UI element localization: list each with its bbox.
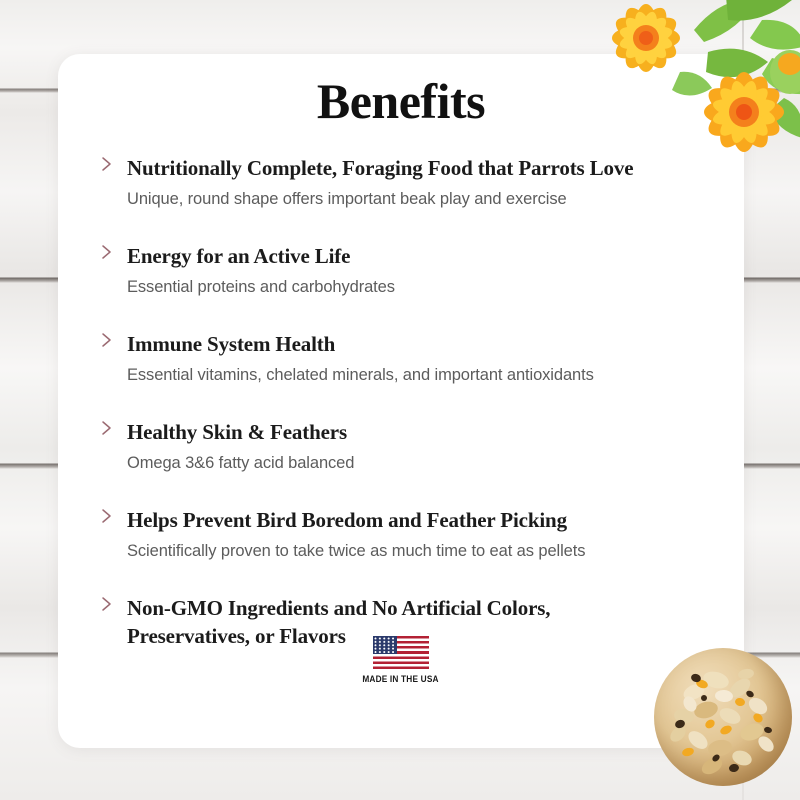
chevron-right-icon [99, 507, 115, 525]
chevron-right-icon [99, 155, 115, 173]
benefit-item: Helps Prevent Bird Boredom and Feather P… [96, 506, 720, 563]
benefit-subtext: Unique, round shape offers important bea… [127, 187, 720, 211]
benefit-item: Nutritionally Complete, Foraging Food th… [96, 154, 720, 211]
chevron-right-icon [99, 243, 115, 261]
benefit-subtext: Essential vitamins, chelated minerals, a… [127, 363, 720, 387]
benefit-subtext: Omega 3&6 fatty acid balanced [127, 451, 720, 475]
usa-flag-icon [373, 636, 429, 669]
benefit-item: Immune System Health Essential vitamins,… [96, 330, 720, 387]
benefit-heading: Healthy Skin & Feathers [127, 418, 720, 446]
food-ball-grains [654, 648, 792, 786]
benefits-list: Nutritionally Complete, Foraging Food th… [96, 154, 720, 650]
chevron-right-icon [99, 595, 115, 613]
flag-canton [373, 636, 397, 654]
benefit-item: Healthy Skin & Feathers Omega 3&6 fatty … [96, 418, 720, 475]
benefit-heading: Immune System Health [127, 330, 720, 358]
benefit-subtext: Essential proteins and carbohydrates [127, 275, 720, 299]
benefit-heading: Helps Prevent Bird Boredom and Feather P… [127, 506, 720, 534]
benefits-card: Benefits Nutritionally Complete, Foragin… [58, 54, 744, 748]
made-in-usa-badge: MADE IN THE USA [58, 636, 744, 684]
chevron-right-icon [99, 331, 115, 349]
bird-food-ball-image [654, 648, 792, 786]
benefit-item: Energy for an Active Life Essential prot… [96, 242, 720, 299]
page-title: Benefits [58, 72, 744, 130]
chevron-right-icon [99, 419, 115, 437]
benefit-heading: Nutritionally Complete, Foraging Food th… [127, 154, 720, 182]
made-in-usa-label: MADE IN THE USA [363, 674, 439, 684]
benefit-heading: Energy for an Active Life [127, 242, 720, 270]
benefit-subtext: Scientifically proven to take twice as m… [127, 539, 720, 563]
flag-stars [374, 637, 396, 653]
